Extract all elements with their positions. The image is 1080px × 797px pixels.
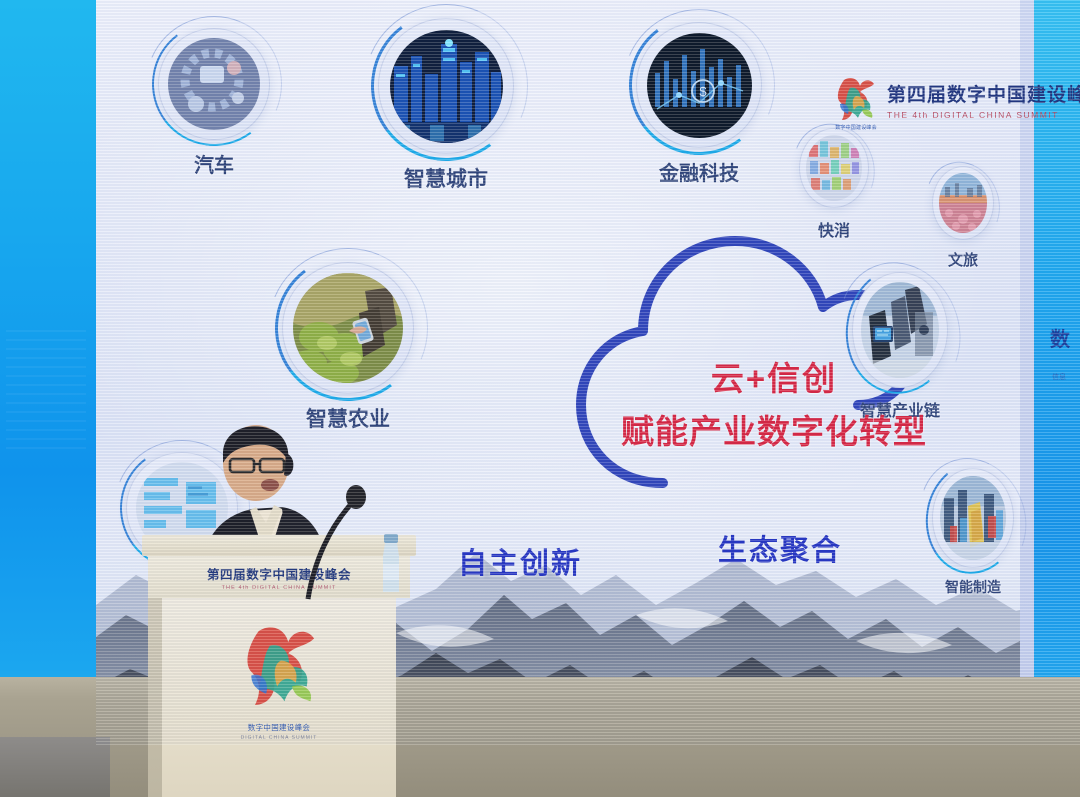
summit-title-en: THE 4th DIGITAL CHINA SUMMIT [887,110,1080,120]
industry-node-fintech: $ 金融科技 [636,22,762,186]
podium-front-panel: 数字中国建设峰会 DIGITAL CHINA SUMMIT [162,598,396,797]
svg-text:$: $ [699,84,707,99]
water-bottle [380,534,402,592]
node-label: 快消 [799,217,869,241]
industry-node-fmcg: 快消 [799,128,869,241]
summit-emblem-icon: 数字中国建设峰会 [832,74,878,126]
agriculture-field-icon [293,273,403,383]
node-ring [378,18,514,154]
podium-logo-subtitle: 数字中国建设峰会 [248,722,310,733]
phrase-independent-innovation: 自主创新 [458,540,582,582]
tourism-landscape-icon [939,173,987,233]
slogan-line-2: 赋能产业数字化转型 [621,405,927,453]
node-ring [799,128,869,208]
industry-node-smart-city: 智慧城市 [378,18,514,193]
node-ring: $ [636,22,762,148]
main-slogan: 云+信创 赋能产业数字化转型 [621,352,927,453]
industry-node-smart-manufacturing: 智能制造 [932,468,1014,597]
node-label: 文旅 [932,249,994,270]
node-ring [158,28,270,140]
stage-floor-left-edge [0,737,110,797]
right-panel-text: 数 [1040,330,1080,351]
conference-stage-photo: + 云+信创 赋能产业数字化转型 [0,0,1080,797]
slogan-line-1: 云+信创 [621,352,927,400]
node-label: 智能制造 [932,577,1014,597]
node-ring [932,166,994,240]
podium-summit-emblem-icon [235,620,323,716]
right-panel-subtext: 信息 [1038,372,1080,382]
car-gear-icon [168,38,260,130]
industry-node-tourism: 文旅 [932,166,994,270]
phrase-ecosystem-aggregation: 生态聚合 [718,527,842,569]
industry-node-automotive: 汽车 [158,28,270,178]
podium-logo-subtitle-en: DIGITAL CHINA SUMMIT [241,735,318,741]
left-cyan-band [0,0,96,760]
node-label: 汽车 [158,149,270,178]
summit-logo-wall: 数字中国建设峰会 第四届数字中国建设峰会 THE 4th DIGITAL CHI… [832,74,1080,126]
smart-factory-icon [940,476,1006,560]
industry-node-smart-agriculture: 智慧农业 [282,262,414,433]
city-night-icon [390,30,503,143]
summit-title-cn: 第四届数字中国建设峰会 [887,80,1080,107]
podium-side-panel [148,598,162,797]
retail-goods-icon [806,135,862,201]
summit-emblem-subtitle: 数字中国建设峰会 [828,124,884,131]
node-ring [932,468,1014,568]
node-ring [282,262,414,394]
microphone [300,481,380,601]
finance-chart-icon: $ [647,33,752,138]
